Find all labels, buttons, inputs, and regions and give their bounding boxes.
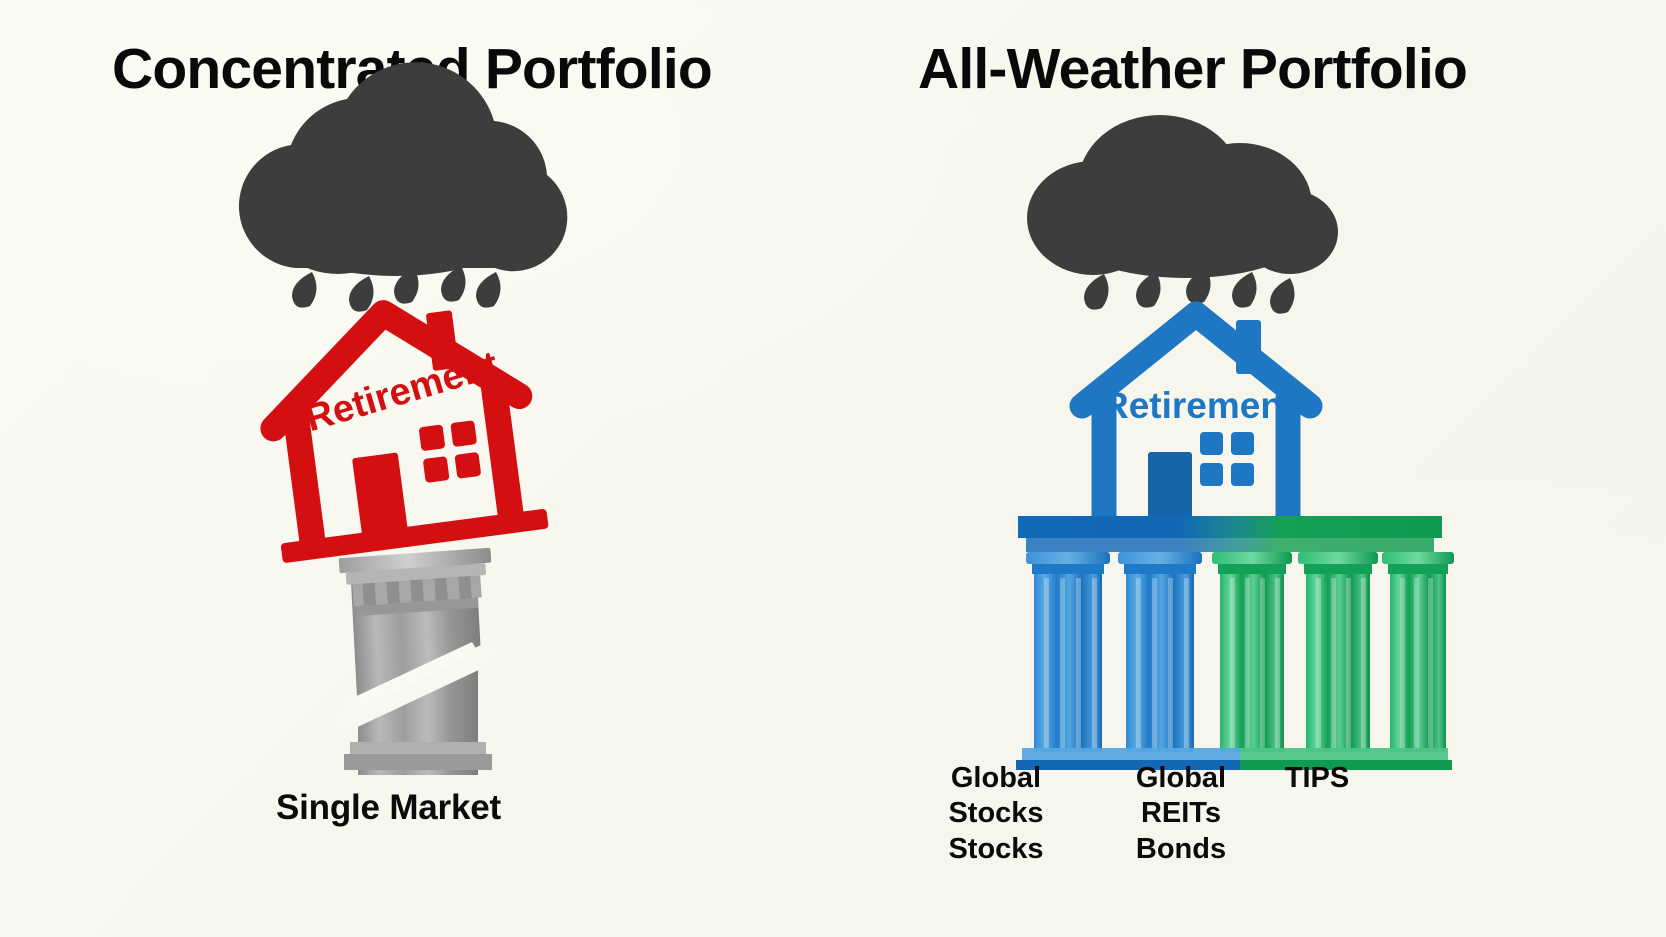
pillar-label-global-reits: Global REITs (1092, 761, 1270, 832)
pillar-label-line1: Global Stocks Global REITs TIPS (906, 761, 1426, 832)
pillar-sublabel-stocks: Stocks (906, 832, 1086, 867)
caption-single-market: Single Market (276, 789, 501, 826)
infographic-canvas: Concentrated Portfolio All-Weather Portf… (0, 0, 1666, 937)
pillar-label-tips: TIPS (1274, 761, 1360, 796)
rain-cloud-icon (1027, 115, 1338, 314)
column-global-stocks (1026, 552, 1110, 752)
pillar-label-group: Global Stocks Global REITs TIPS Stocks B… (906, 761, 1426, 867)
window-icon (1200, 432, 1254, 486)
pillar-label-line2: Stocks Bonds (906, 832, 1426, 867)
temple-base (1016, 516, 1454, 770)
pillar-label-global-stocks: Global Stocks (906, 761, 1086, 832)
house-label-right: Retirement (1102, 385, 1295, 426)
retirement-house-blue: Retirement (1082, 314, 1310, 522)
column-group-blue (1026, 552, 1202, 752)
pillar-sublabel-bonds: Bonds (1092, 832, 1270, 867)
column-stocks (1118, 552, 1202, 752)
